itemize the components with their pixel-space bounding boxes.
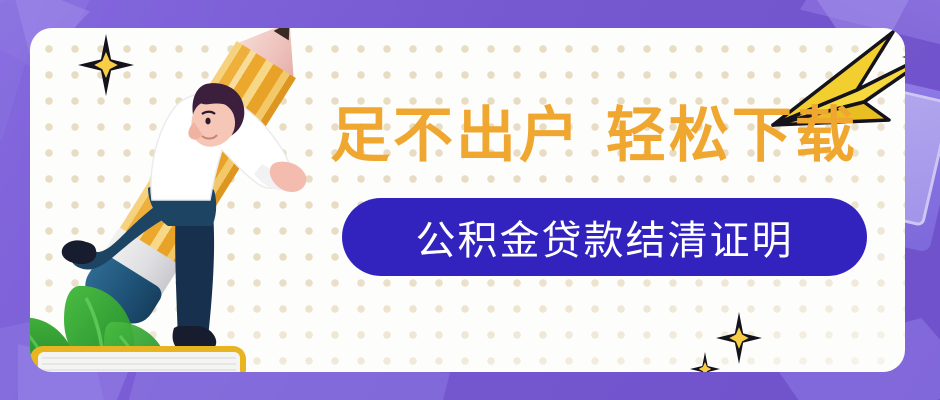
sparkle-icon-bottom-large bbox=[716, 312, 762, 364]
product-title-label: 公积金贷款结清证明 bbox=[416, 208, 794, 266]
person-eye bbox=[205, 118, 210, 125]
person-back-shoe bbox=[62, 240, 97, 264]
content-card: 足不出户 轻松下载 公积金贷款结清证明 bbox=[30, 28, 905, 372]
promo-banner: 足不出户 轻松下载 公积金贷款结清证明 bbox=[0, 0, 940, 400]
product-title-pill[interactable]: 公积金贷款结清证明 bbox=[342, 198, 867, 276]
sparkle-icon-bottom-small bbox=[690, 352, 720, 372]
books-illustration bbox=[30, 344, 252, 372]
book-top-pages bbox=[38, 352, 240, 372]
banner-headline: 足不出户 轻松下载 bbox=[330, 106, 890, 166]
